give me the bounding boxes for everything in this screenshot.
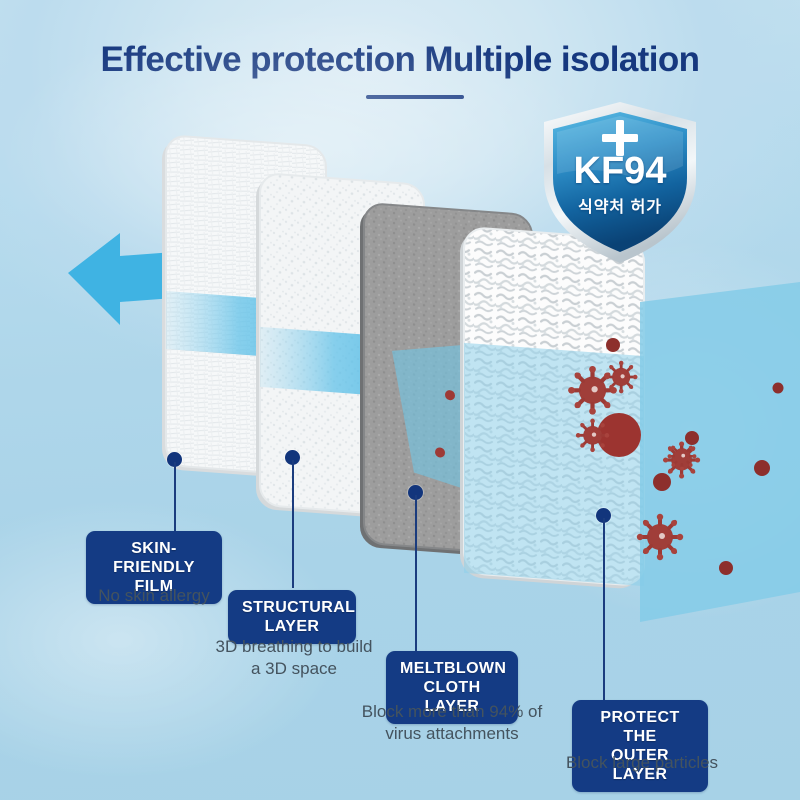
caption-line-1: Block more than 94% of — [352, 701, 552, 723]
caption-meltblown: Block more than 94% of virus attachments — [352, 701, 552, 745]
label-line-1: MELTBLOWN — [400, 659, 504, 678]
leader-line-outer — [603, 518, 605, 700]
label-line-2: LAYER — [242, 617, 342, 636]
caption-structural: 3D breathing to build a 3D space — [196, 636, 392, 680]
label-line-1: PROTECT THE — [586, 708, 694, 746]
leader-line-skin-friendly-film — [174, 462, 176, 534]
label-badge-outer[interactable]: PROTECT THE OUTER LAYER — [572, 700, 708, 792]
caption-skin-friendly-film: No skin allergy — [54, 585, 254, 607]
leader-line-meltblown — [415, 495, 417, 651]
infographic-canvas: Effective protection Multiple isolation — [0, 0, 800, 800]
plus-cross-icon — [598, 116, 642, 160]
caption-line-1: 3D breathing to build — [196, 636, 392, 658]
virus-particles-group — [540, 300, 800, 720]
leader-line-structural — [292, 460, 294, 588]
label-line-1: STRUCTURAL — [242, 598, 342, 617]
kf94-shield-badge: KF94 식약처 허가 — [540, 100, 700, 265]
label-line-1: SKIN-FRIENDLY — [100, 539, 208, 577]
caption-outer: Block large particles — [545, 752, 739, 774]
caption-line-2: a 3D space — [196, 658, 392, 680]
caption-line-2: virus attachments — [352, 723, 552, 745]
